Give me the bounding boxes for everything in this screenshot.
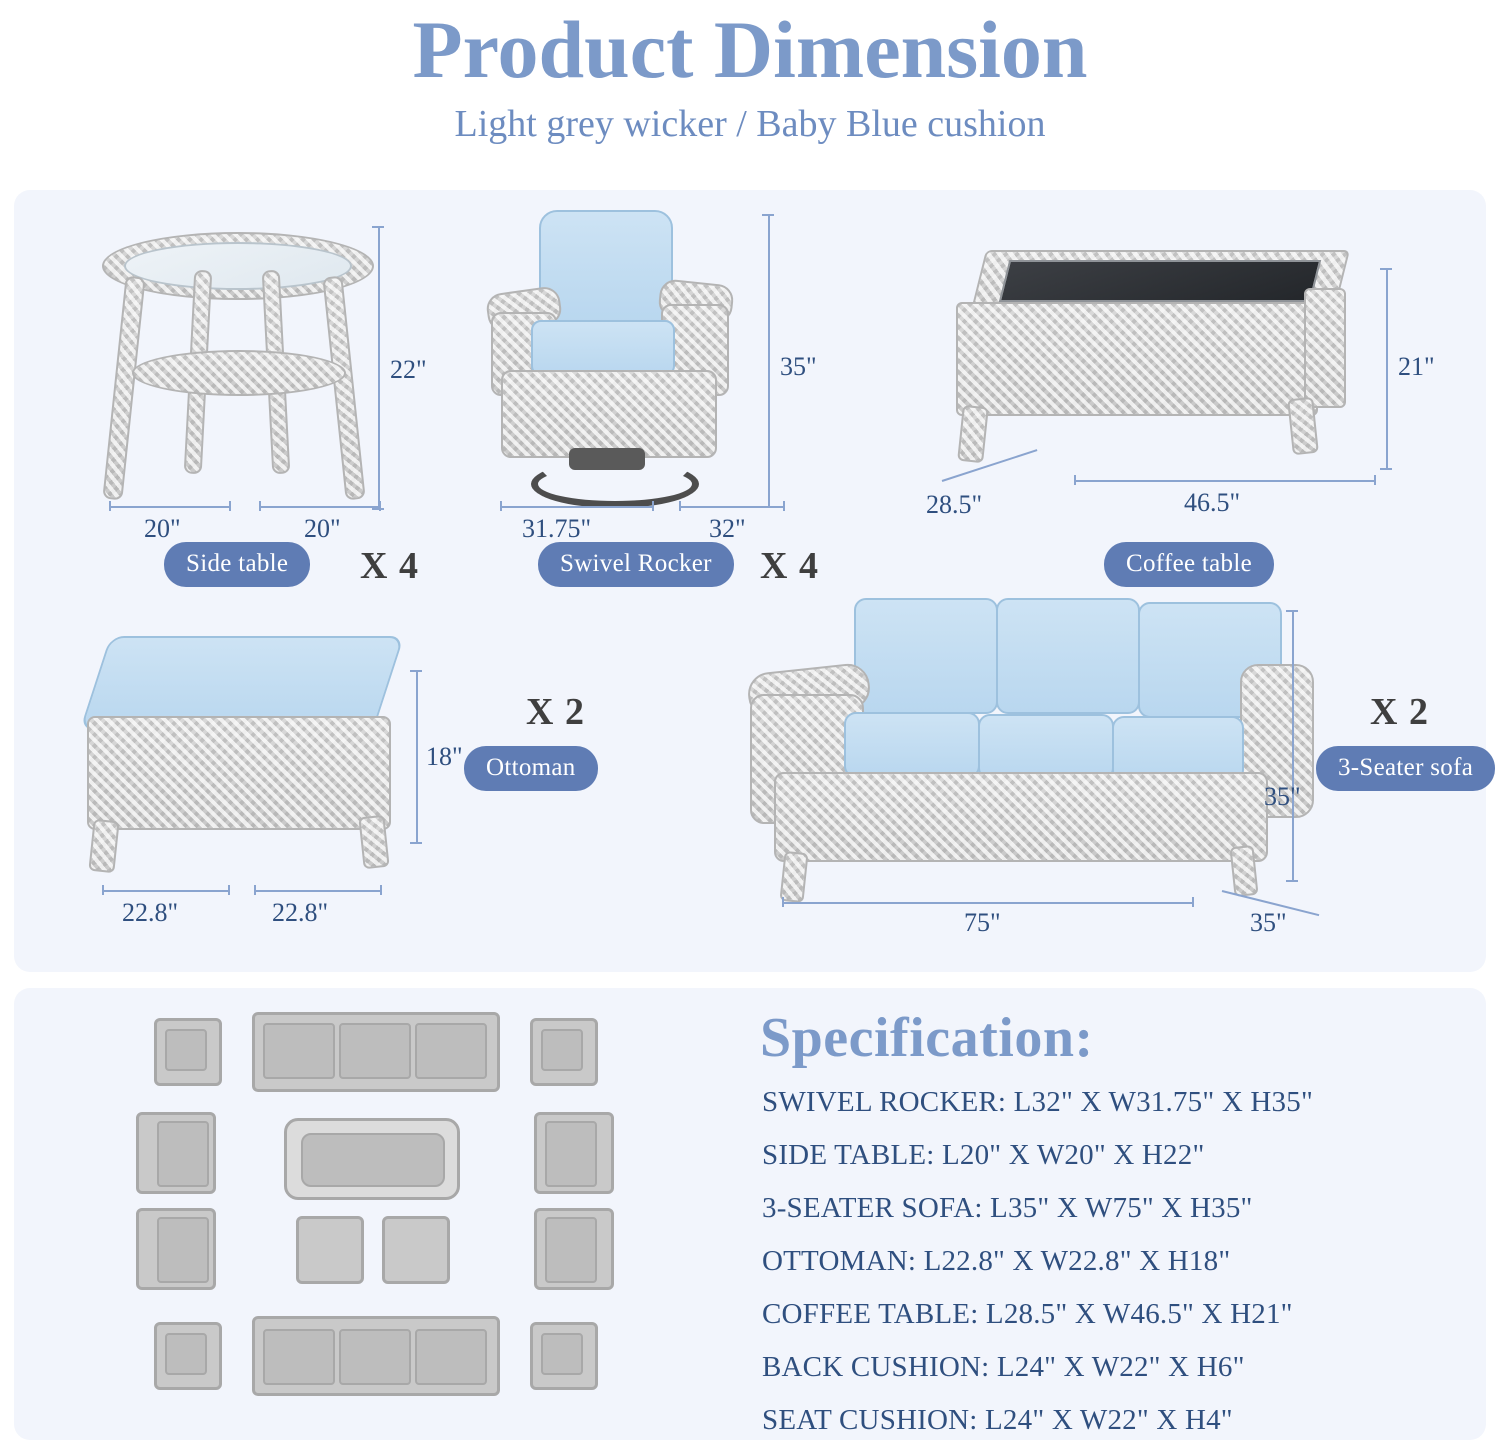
swivel-rocker-depth-label: 31.75" xyxy=(522,514,591,544)
layout-ottoman xyxy=(382,1216,450,1284)
specification-title: Specification: xyxy=(760,1006,1094,1070)
side-table-label: Side table xyxy=(164,542,310,587)
spec-line-back-cushion: BACK CUSHION: L24" X W22" X H6" xyxy=(762,1351,1313,1384)
side-table-illustration xyxy=(84,210,414,540)
spec-line-ottoman: OTTOMAN: L22.8" X W22.8" X H18" xyxy=(762,1245,1313,1278)
specification-list: SWIVEL ROCKER: L32" X W31.75" X H35" SID… xyxy=(762,1086,1313,1437)
ottoman-label: Ottoman xyxy=(464,746,598,791)
sofa-pill: 3-Seater sofa xyxy=(1316,746,1495,791)
ottoman-height-label: 18" xyxy=(426,742,463,772)
spec-line-sofa: 3-SEATER SOFA: L35" X W75" X H35" xyxy=(762,1192,1313,1225)
layout-side-table xyxy=(530,1018,598,1086)
side-table-width-label: 20" xyxy=(304,514,341,544)
page-header: Product Dimension Light grey wicker / Ba… xyxy=(0,0,1500,150)
layout-sofa-top xyxy=(252,1012,500,1092)
layout-side-table xyxy=(154,1018,222,1086)
spec-line-coffee-table: COFFEE TABLE: L28.5" X W46.5" X H21" xyxy=(762,1298,1313,1331)
layout-rocker xyxy=(136,1112,216,1194)
layout-rocker xyxy=(136,1208,216,1290)
coffee-table-pill: Coffee table xyxy=(1104,542,1274,587)
ottoman-width-label: 22.8" xyxy=(272,898,328,928)
swivel-rocker-pill: Swivel Rocker xyxy=(538,542,734,587)
swivel-rocker-quantity: X 4 xyxy=(760,544,819,588)
side-table-quantity: X 4 xyxy=(360,544,419,588)
spec-line-swivel-rocker: SWIVEL ROCKER: L32" X W31.75" X H35" xyxy=(762,1086,1313,1119)
layout-side-table xyxy=(154,1322,222,1390)
layout-rocker xyxy=(534,1112,614,1194)
layout-sofa-bottom xyxy=(252,1316,500,1396)
sofa-label: 3-Seater sofa xyxy=(1316,746,1495,791)
swivel-rocker-width-label: 32" xyxy=(709,514,746,544)
sofa-width-label: 75" xyxy=(964,908,1001,938)
side-table-pill: Side table xyxy=(164,542,310,587)
coffee-table-label: Coffee table xyxy=(1104,542,1274,587)
ottoman-depth-label: 22.8" xyxy=(122,898,178,928)
swivel-rocker-illustration xyxy=(469,204,749,514)
sofa-quantity: X 2 xyxy=(1370,690,1429,734)
coffee-table-height-label: 21" xyxy=(1398,352,1435,382)
coffee-table-depth-label: 28.5" xyxy=(926,490,982,520)
page-subtitle: Light grey wicker / Baby Blue cushion xyxy=(0,98,1500,150)
ottoman-illustration xyxy=(69,630,419,890)
page-title: Product Dimension xyxy=(0,4,1500,96)
sofa-depth-label: 35" xyxy=(1250,908,1287,938)
side-table-depth-label: 20" xyxy=(144,514,181,544)
layout-rocker xyxy=(534,1208,614,1290)
coffee-table-width-label: 46.5" xyxy=(1184,488,1240,518)
spec-line-side-table: SIDE TABLE: L20" X W20" X H22" xyxy=(762,1139,1313,1172)
swivel-rocker-height-label: 35" xyxy=(780,352,817,382)
layout-coffee-table xyxy=(284,1118,460,1200)
swivel-rocker-label: Swivel Rocker xyxy=(538,542,734,587)
sofa-height-label: 35" xyxy=(1264,782,1301,812)
spec-line-seat-cushion: SEAT CUSHION: L24" X W22" X H4" xyxy=(762,1404,1313,1437)
dimension-panel: 20" 20" 22" Side table X 4 31.75" xyxy=(14,190,1486,972)
sofa-illustration xyxy=(734,590,1314,920)
layout-diagram xyxy=(124,1010,684,1430)
side-table-height-label: 22" xyxy=(390,355,427,385)
specification-panel: Specification: SWIVEL ROCKER: L32" X W31… xyxy=(14,988,1486,1440)
layout-ottoman xyxy=(296,1216,364,1284)
ottoman-quantity: X 2 xyxy=(526,690,585,734)
ottoman-pill: Ottoman xyxy=(464,746,598,791)
layout-side-table xyxy=(530,1322,598,1390)
